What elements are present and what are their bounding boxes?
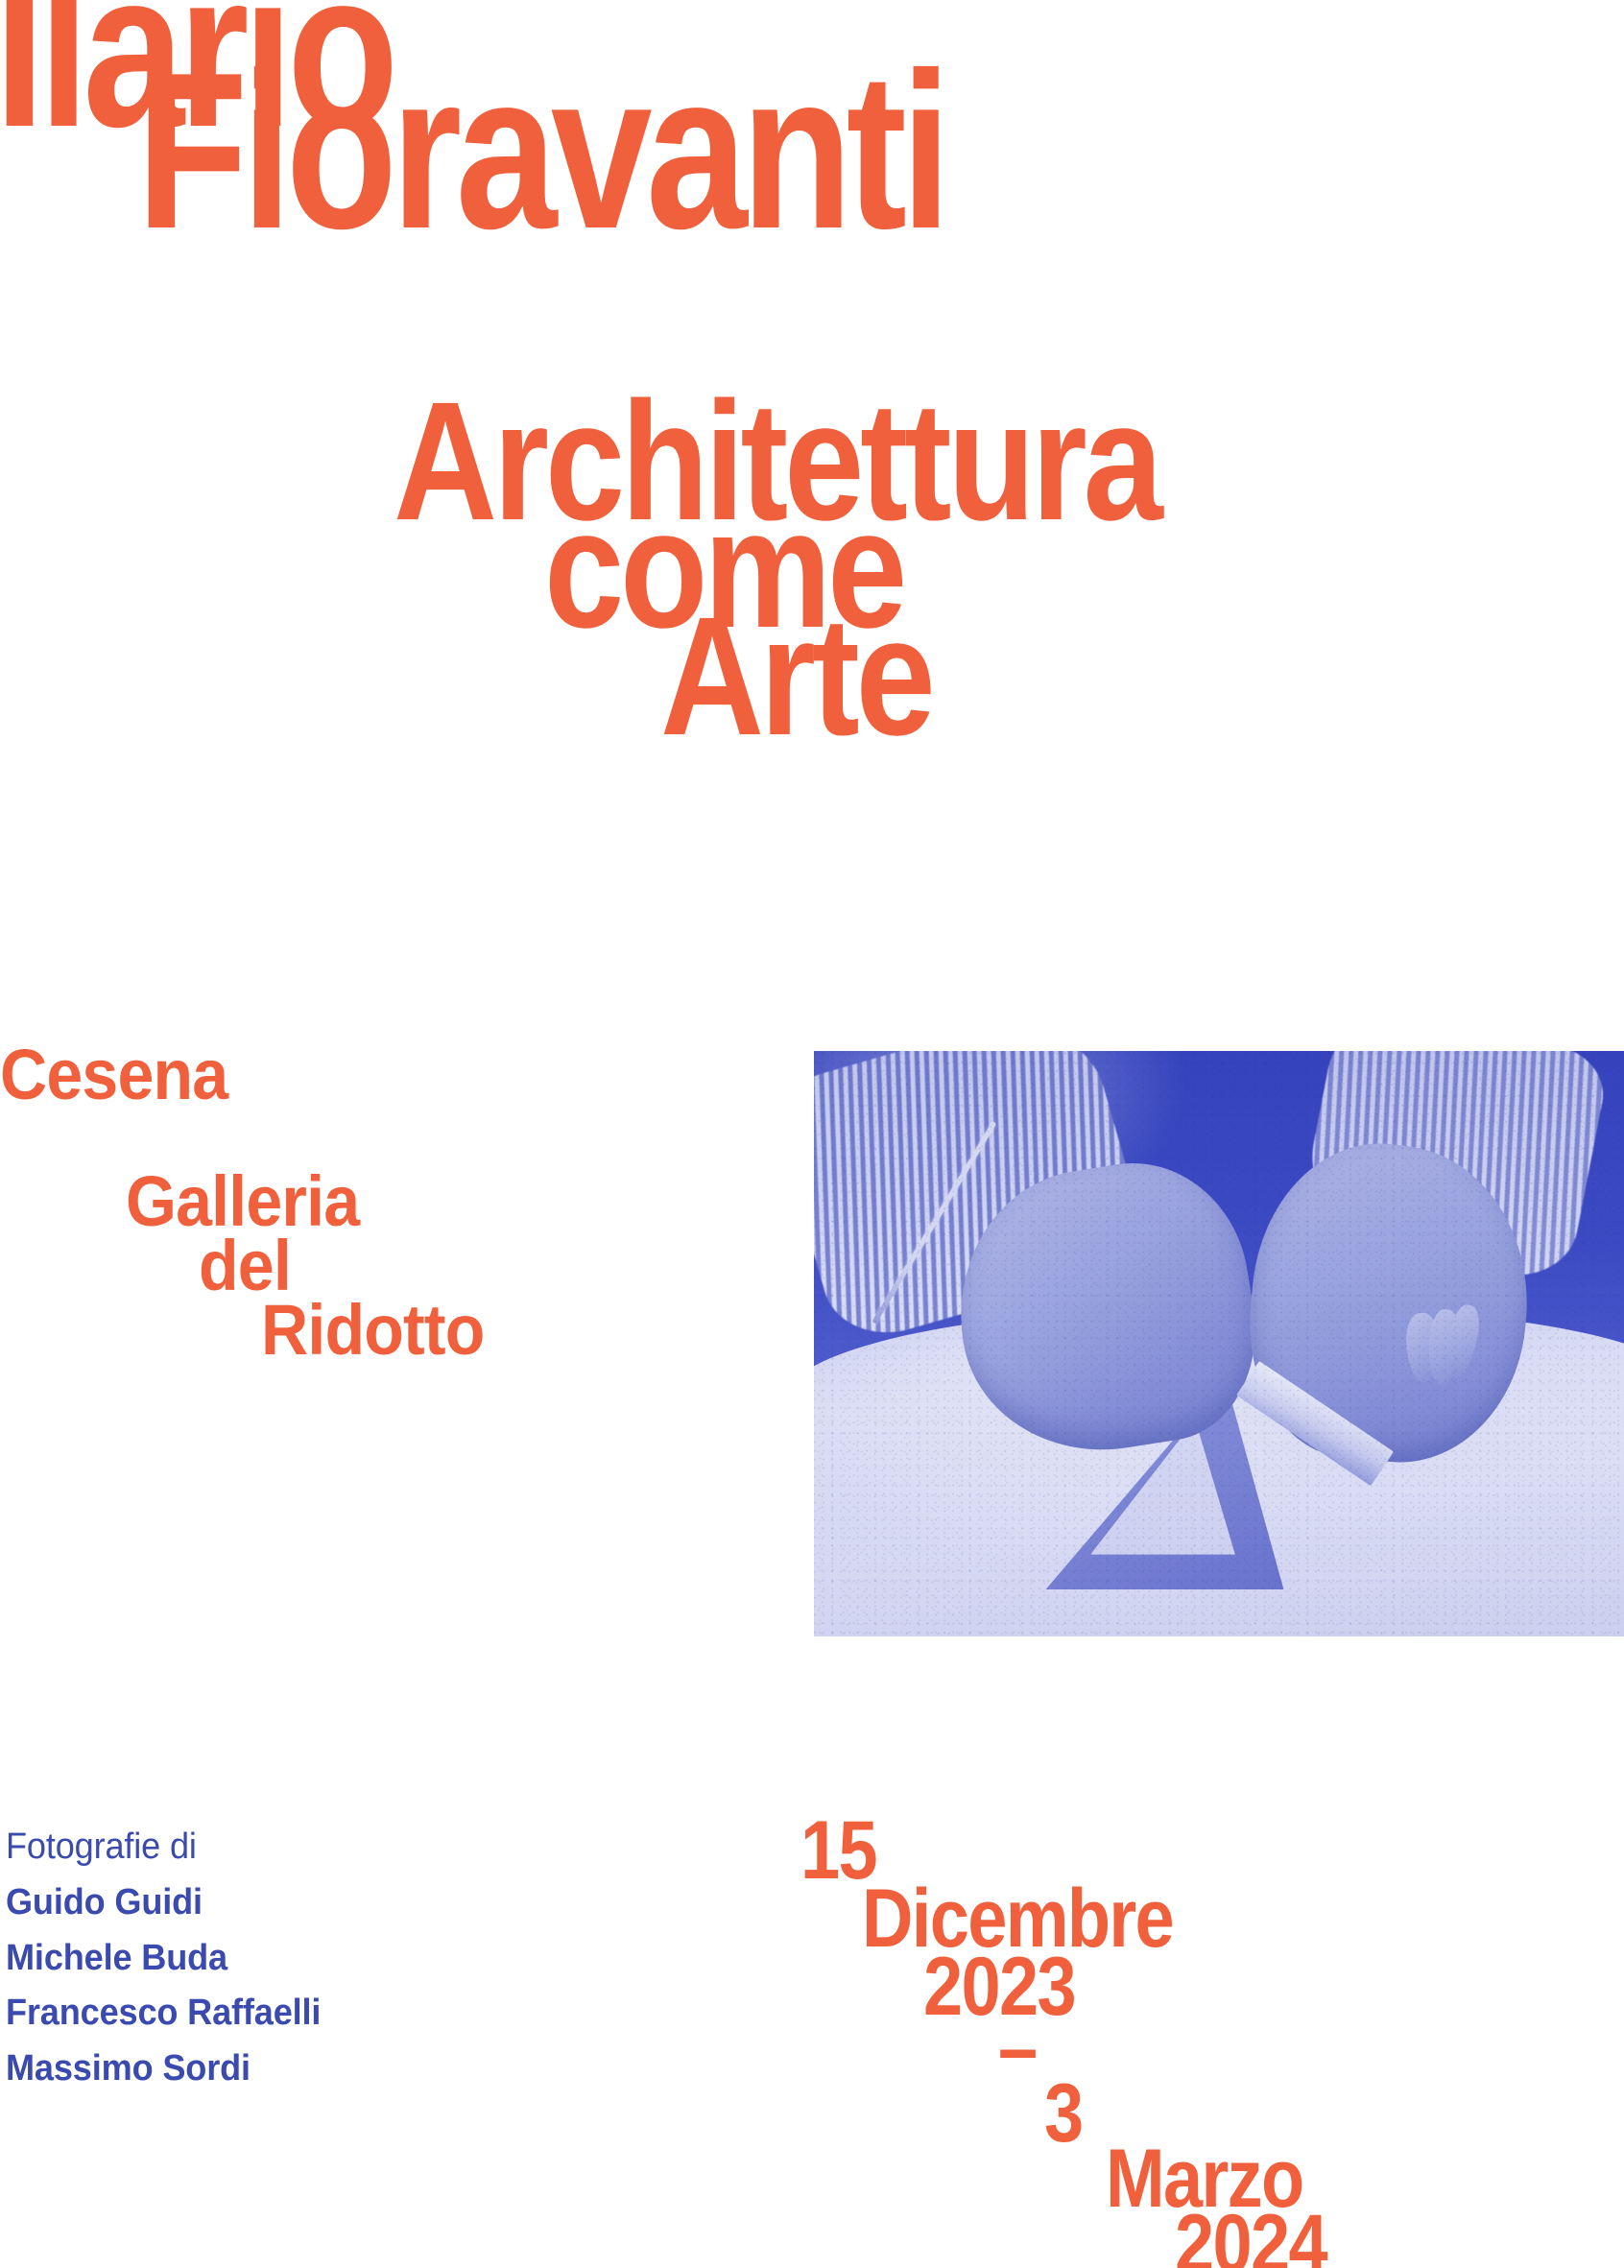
photographer-name: Guido Guidi (6, 1875, 480, 1931)
photographer-name: Michele Buda (6, 1931, 480, 1987)
photographer-credits: Fotografie di Guido Guidi Michele Buda F… (6, 1820, 505, 2097)
credits-intro-label: Fotografie di (6, 1820, 480, 1875)
venue-name-line-2: del (199, 1235, 291, 1297)
photographer-name: Francesco Raffaelli (6, 1986, 480, 2041)
artist-last-name: Fioravanti (136, 56, 945, 248)
date-range-separator: – (998, 2014, 1037, 2085)
exhibition-photograph (814, 1051, 1624, 1636)
venue-name-line-3: Ridotto (261, 1300, 484, 1361)
venue-name-line-1: Galleria (126, 1171, 359, 1232)
exhibition-poster: Ilario Fioravanti Architettura come Arte… (0, 0, 1624, 2268)
venue-city: Cesena (0, 1044, 227, 1106)
end-date-year: 2024 (1175, 2209, 1326, 2268)
title-line-3: Arte (660, 605, 932, 750)
end-date-day: 3 (1044, 2079, 1083, 2150)
photographer-name: Massimo Sordi (6, 2041, 480, 2097)
